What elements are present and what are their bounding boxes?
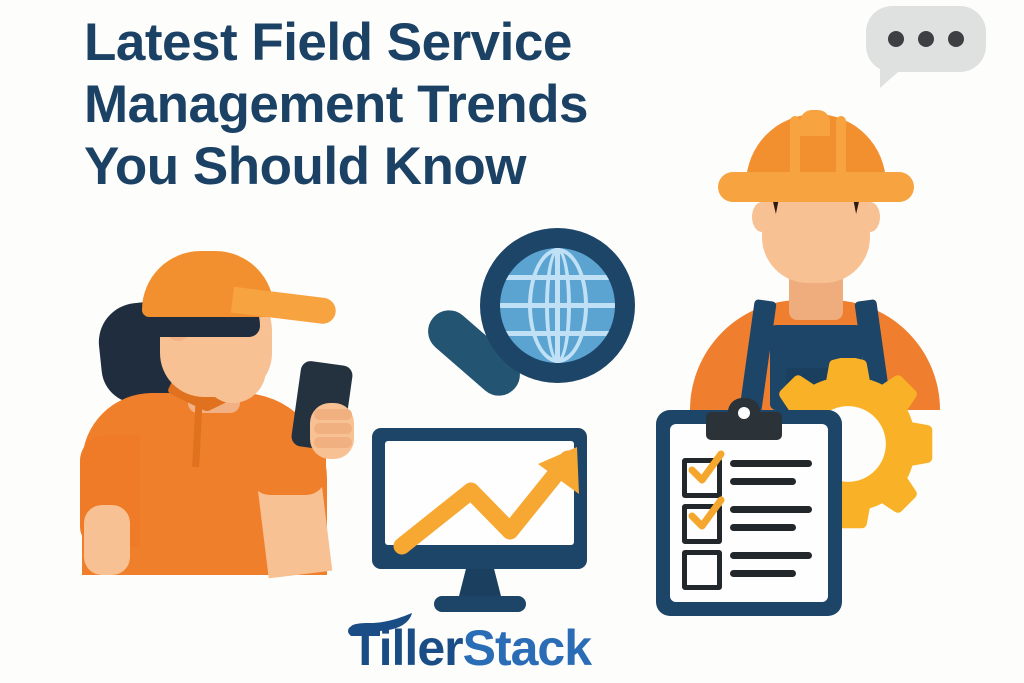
clipboard-clip-hole	[738, 407, 750, 419]
brand-logo-part-2: Stack	[463, 620, 591, 676]
checklist-item-1	[682, 456, 822, 500]
brand-logo-wordmark: TillerStack	[350, 622, 591, 674]
checklist-text-line-1b	[730, 478, 796, 485]
banner-canvas: Latest Field Service Management Trends Y…	[0, 0, 1024, 683]
checklist-text-line-3a	[730, 552, 812, 559]
chat-dot-2	[918, 31, 934, 47]
brand-logo-part-1: Tiller	[350, 620, 463, 676]
chat-dot-1	[888, 31, 904, 47]
checklist-item-3	[682, 548, 822, 592]
magnifying-glass-globe-icon	[412, 228, 637, 423]
checklist-text-line-2b	[730, 524, 796, 531]
checklist-item-2	[682, 502, 822, 546]
globe-icon	[500, 248, 615, 363]
checkbox-3[interactable]	[682, 550, 722, 590]
check-icon-1	[686, 450, 726, 490]
checklist-text-line-2a	[730, 506, 812, 513]
worker-male-illustration	[690, 110, 940, 400]
page-title-line-3: You Should Know	[84, 136, 724, 198]
clipboard-checklist-icon	[656, 398, 842, 616]
page-title: Latest Field Service Management Trends Y…	[84, 12, 724, 198]
check-icon-2	[686, 496, 726, 536]
technician-arm-left	[84, 505, 130, 575]
technician-finger-3	[314, 437, 352, 448]
chat-bubble-icon	[866, 6, 986, 82]
checklist-text-line-1a	[730, 460, 812, 467]
hard-hat-crest	[800, 110, 830, 136]
page-title-line-2: Management Trends	[84, 74, 724, 136]
checklist-text-line-3b	[730, 570, 796, 577]
technician-finger-1	[314, 409, 352, 420]
chat-dot-3	[948, 31, 964, 47]
technician-finger-2	[314, 423, 352, 434]
page-title-line-1: Latest Field Service	[84, 12, 724, 74]
monitor-growth-chart	[372, 428, 597, 614]
hard-hat-brim	[718, 172, 914, 202]
brand-logo[interactable]: TillerStack	[348, 612, 678, 678]
technician-female-illustration	[82, 245, 372, 575]
globe-meridian-inner	[545, 248, 571, 363]
growth-arrow-icon	[372, 428, 597, 614]
